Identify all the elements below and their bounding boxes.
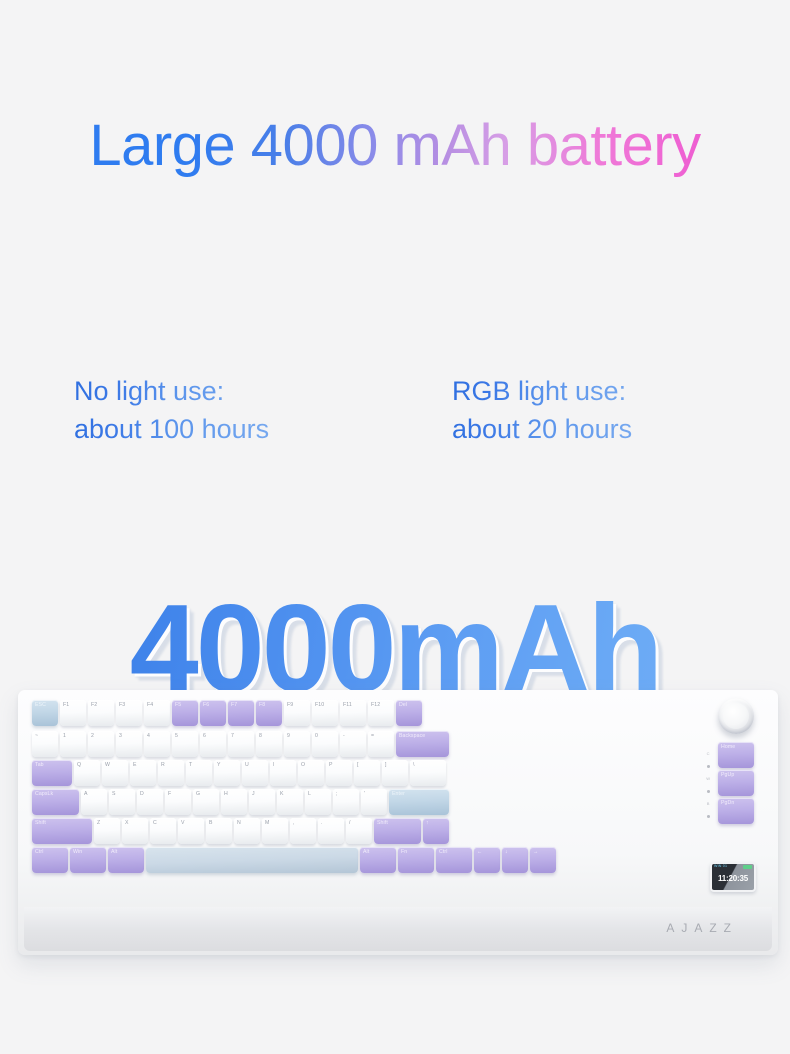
key-label: P [329,763,333,768]
key-label: 0 [315,734,318,739]
key-f3[interactable]: F3 [116,700,142,726]
key-label: F [168,792,171,797]
key-label: 8 [259,734,262,739]
key-shift[interactable]: Shift [32,818,92,844]
key-label: , [293,821,295,826]
led-label-c: C [707,752,710,756]
key-label: PgDn [721,801,734,806]
key-label: Enter [392,792,405,797]
no-light-title: No light use: [74,372,269,410]
usage-block-no-light: No light use: about 100 hours [74,372,269,449]
key-f8[interactable]: F8 [256,700,282,726]
key-label: T [189,763,192,768]
key-label: I [273,763,275,768]
key-u[interactable]: U [242,760,268,786]
key-f2[interactable]: F2 [88,700,114,726]
key-label: / [349,821,351,826]
led-indicator [707,815,710,818]
key-8[interactable]: 8 [256,731,282,757]
key-label: ' [364,792,365,797]
key-label: Shift [35,821,46,826]
key-label: U [245,763,249,768]
key-label: F8 [259,703,265,708]
key-label: Fn [401,850,407,855]
key-4[interactable]: 4 [144,731,170,757]
key-label: N [237,821,241,826]
key-label: J [252,792,255,797]
keyboard-row-function: ESCF1F2F3F4F5F6F7F8F9F10F11F12Del [32,700,422,726]
key-label: F6 [203,703,209,708]
key-label: Home [721,745,735,750]
key-label: F7 [231,703,237,708]
keyboard-front-lip: AJAZZ [24,907,772,951]
key-g[interactable]: G [193,789,219,815]
key--[interactable]: ↓ [502,847,528,873]
key-label: G [196,792,200,797]
key-label: 3 [119,734,122,739]
brand-logo: AJAZZ [666,921,738,935]
key-q[interactable]: Q [74,760,100,786]
key-f4[interactable]: F4 [144,700,170,726]
key-label: C [153,821,157,826]
rgb-light-title: RGB light use: [452,372,632,410]
key-label: O [301,763,305,768]
key-alt[interactable]: Alt [108,847,144,873]
key-backspace[interactable]: Backspace [396,731,449,757]
key-w[interactable]: W [102,760,128,786]
key-label: ~ [35,734,38,739]
key-t[interactable]: T [186,760,212,786]
keyboard-row-home: CapsLkASDFGHJKL;'Enter [32,789,449,815]
key-k[interactable]: K [277,789,303,815]
key-label: 2 [91,734,94,739]
key--[interactable]: - [340,731,366,757]
rgb-light-value: about 20 hours [452,410,632,448]
key-label: R [161,763,165,768]
key-label: Alt [363,850,369,855]
key-n[interactable]: N [234,818,260,844]
key--[interactable]: = [368,731,394,757]
key-s[interactable]: S [109,789,135,815]
led-indicator [707,790,710,793]
key-label: . [321,821,323,826]
key-home[interactable]: Home [718,742,754,768]
key-alt[interactable]: Alt [360,847,396,873]
key-y[interactable]: Y [214,760,240,786]
key-f9[interactable]: F9 [284,700,310,726]
key-enter[interactable]: Enter [389,789,449,815]
key-ctrl[interactable]: Ctrl [32,847,68,873]
battery-icon [743,865,752,869]
lcd-mode-tag: WIN 01 [714,865,727,869]
key-label: E [133,763,137,768]
key-m[interactable]: M [262,818,288,844]
key-label: \ [413,763,415,768]
key-label: F3 [119,703,125,708]
key--[interactable]: [ [354,760,380,786]
key-label: V [181,821,185,826]
key-label: K [280,792,284,797]
key-label: ] [385,763,387,768]
lcd-clock: 11:20:35 [712,875,754,883]
key-label: Tab [35,763,44,768]
key-f5[interactable]: F5 [172,700,198,726]
key-label: A [84,792,88,797]
key-capslk[interactable]: CapsLk [32,789,79,815]
key-label: Y [217,763,221,768]
key-label: Ctrl [35,850,43,855]
key-label: Backspace [399,734,425,739]
key-label: F5 [175,703,181,708]
keyboard-product-image: AJAZZ ESCF1F2F3F4F5F6F7F8F9F10F11F12Del … [18,690,778,955]
key-label: ↓ [505,850,508,855]
key-label: ; [336,792,338,797]
key-label: ↑ [426,821,429,826]
key-label: ← [477,850,482,855]
no-light-value: about 100 hours [74,410,269,448]
rotary-knob[interactable] [718,698,754,734]
indicator-leds: C W B [706,752,710,818]
key--[interactable]: ' [361,789,387,815]
key-f11[interactable]: F11 [340,700,366,726]
key-o[interactable]: O [298,760,324,786]
keyboard-key-plate: ESCF1F2F3F4F5F6F7F8F9F10F11F12Del ~12345… [32,700,764,898]
key-label: = [371,734,374,739]
key-space[interactable] [146,847,358,873]
key-f[interactable]: F [165,789,191,815]
key-f6[interactable]: F6 [200,700,226,726]
key--[interactable]: ] [382,760,408,786]
key-3[interactable]: 3 [116,731,142,757]
key-label: Ctrl [439,850,447,855]
key-ctrl[interactable]: Ctrl [436,847,472,873]
key-label: Alt [111,850,117,855]
key-z[interactable]: Z [94,818,120,844]
key-pgdn[interactable]: PgDn [718,798,754,824]
key-f12[interactable]: F12 [368,700,394,726]
key-label: B [209,821,213,826]
keyboard-row-number: ~1234567890-=Backspace [32,731,449,757]
key-e[interactable]: E [130,760,156,786]
key-esc[interactable]: ESC [32,700,58,726]
key-label: F2 [91,703,97,708]
key-label: 5 [175,734,178,739]
key-del[interactable]: Del [396,700,422,726]
led-indicator [707,765,710,768]
key--[interactable]: ← [474,847,500,873]
usage-block-rgb-light: RGB light use: about 20 hours [452,372,632,449]
key-2[interactable]: 2 [88,731,114,757]
key-x[interactable]: X [122,818,148,844]
led-label-w: W [706,777,710,781]
key-label: F1 [63,703,69,708]
key-9[interactable]: 9 [284,731,310,757]
key-label: X [125,821,129,826]
key-label: S [112,792,116,797]
key--[interactable]: ↑ [423,818,449,844]
key-5[interactable]: 5 [172,731,198,757]
key-1[interactable]: 1 [60,731,86,757]
key-label: ESC [35,703,46,708]
key-7[interactable]: 7 [228,731,254,757]
battery-usage-row: No light use: about 100 hours RGB light … [0,372,790,472]
key-f1[interactable]: F1 [60,700,86,726]
key-label: Win [73,850,82,855]
key-label: 1 [63,734,66,739]
key-label: H [224,792,228,797]
key-i[interactable]: I [270,760,296,786]
key-pgup[interactable]: PgUp [718,770,754,796]
key-j[interactable]: J [249,789,275,815]
lcd-status-bar: WIN 01 [714,865,752,869]
key-label: F12 [371,703,380,708]
keyboard-row-bottom: CtrlWinAltAltFnCtrl←↓→ [32,847,556,873]
key-label: CapsLk [35,792,53,797]
key--[interactable]: ~ [32,731,58,757]
key-label: F11 [343,703,352,708]
key-label: Del [399,703,407,708]
key--[interactable]: / [346,818,372,844]
key-label: L [308,792,311,797]
keyboard-row-shift: ShiftZXCVBNM,./Shift↑ [32,818,449,844]
key-p[interactable]: P [326,760,352,786]
keyboard-row-qwerty: TabQWERTYUIOP[]\ [32,760,446,786]
key--[interactable]: , [290,818,316,844]
key--[interactable]: \ [410,760,446,786]
key-c[interactable]: C [150,818,176,844]
key-label: 7 [231,734,234,739]
key-win[interactable]: Win [70,847,106,873]
keyboard-lcd-screen[interactable]: WIN 01 11:20:35 [710,862,756,892]
key-f10[interactable]: F10 [312,700,338,726]
navigation-key-cluster: HomePgUpPgDn [718,742,754,824]
key-label: 6 [203,734,206,739]
key-label: Shift [377,821,388,826]
key-label: 9 [287,734,290,739]
key-6[interactable]: 6 [200,731,226,757]
key-label: → [533,850,538,855]
key-fn[interactable]: Fn [398,847,434,873]
key-label: [ [357,763,359,768]
key-l[interactable]: L [305,789,331,815]
key-d[interactable]: D [137,789,163,815]
lcd-inner: WIN 01 11:20:35 [712,864,754,890]
page-headline: Large 4000 mAh battery [0,112,790,179]
key-label: F9 [287,703,293,708]
key-label: F10 [315,703,324,708]
key--[interactable]: → [530,847,556,873]
key-r[interactable]: R [158,760,184,786]
key-label: F4 [147,703,153,708]
key--[interactable]: . [318,818,344,844]
key-a[interactable]: A [81,789,107,815]
key-label: - [343,734,345,739]
key-0[interactable]: 0 [312,731,338,757]
key--[interactable]: ; [333,789,359,815]
key-v[interactable]: V [178,818,204,844]
key-f7[interactable]: F7 [228,700,254,726]
key-b[interactable]: B [206,818,232,844]
key-tab[interactable]: Tab [32,760,72,786]
key-label: W [105,763,110,768]
key-label: Q [77,763,81,768]
key-label: D [140,792,144,797]
key-label: 4 [147,734,150,739]
key-label: Z [97,821,100,826]
key-h[interactable]: H [221,789,247,815]
key-label: M [265,821,269,826]
key-shift[interactable]: Shift [374,818,421,844]
key-label: PgUp [721,773,734,778]
led-label-b: B [707,802,710,806]
